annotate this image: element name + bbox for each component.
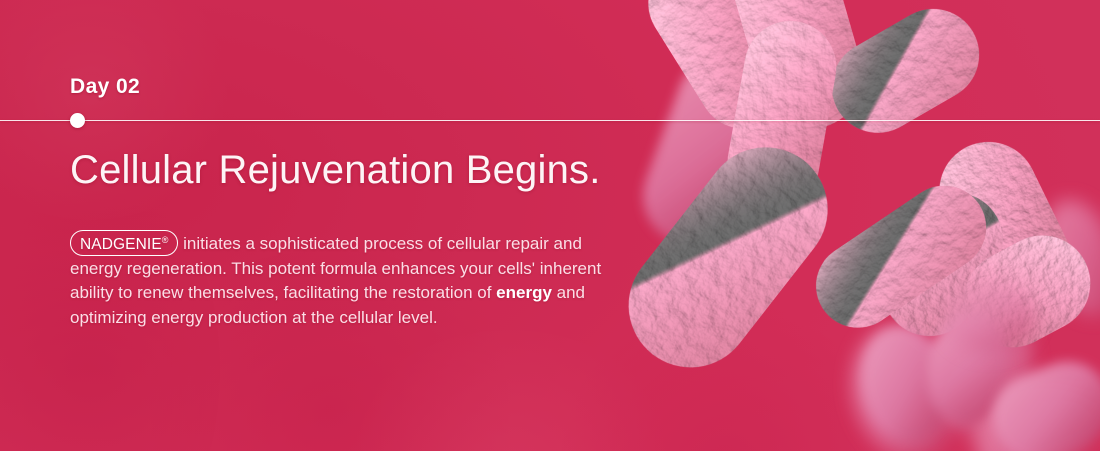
content-column: Day 02 Cellular Rejuvenation Begins. NAD… — [70, 0, 690, 451]
brand-name: NADGENIE — [80, 236, 162, 253]
day-label: Day 02 — [70, 76, 140, 97]
day-02-promo-banner: Day 02 Cellular Rejuvenation Begins. NAD… — [0, 0, 1100, 451]
body-emphasis-energy: energy — [496, 283, 552, 302]
page-title: Cellular Rejuvenation Begins. — [70, 148, 601, 192]
registered-trademark-icon: ® — [162, 235, 169, 245]
brand-badge: NADGENIE® — [70, 230, 178, 256]
body-copy: NADGENIE® initiates a sophisticated proc… — [70, 230, 615, 330]
